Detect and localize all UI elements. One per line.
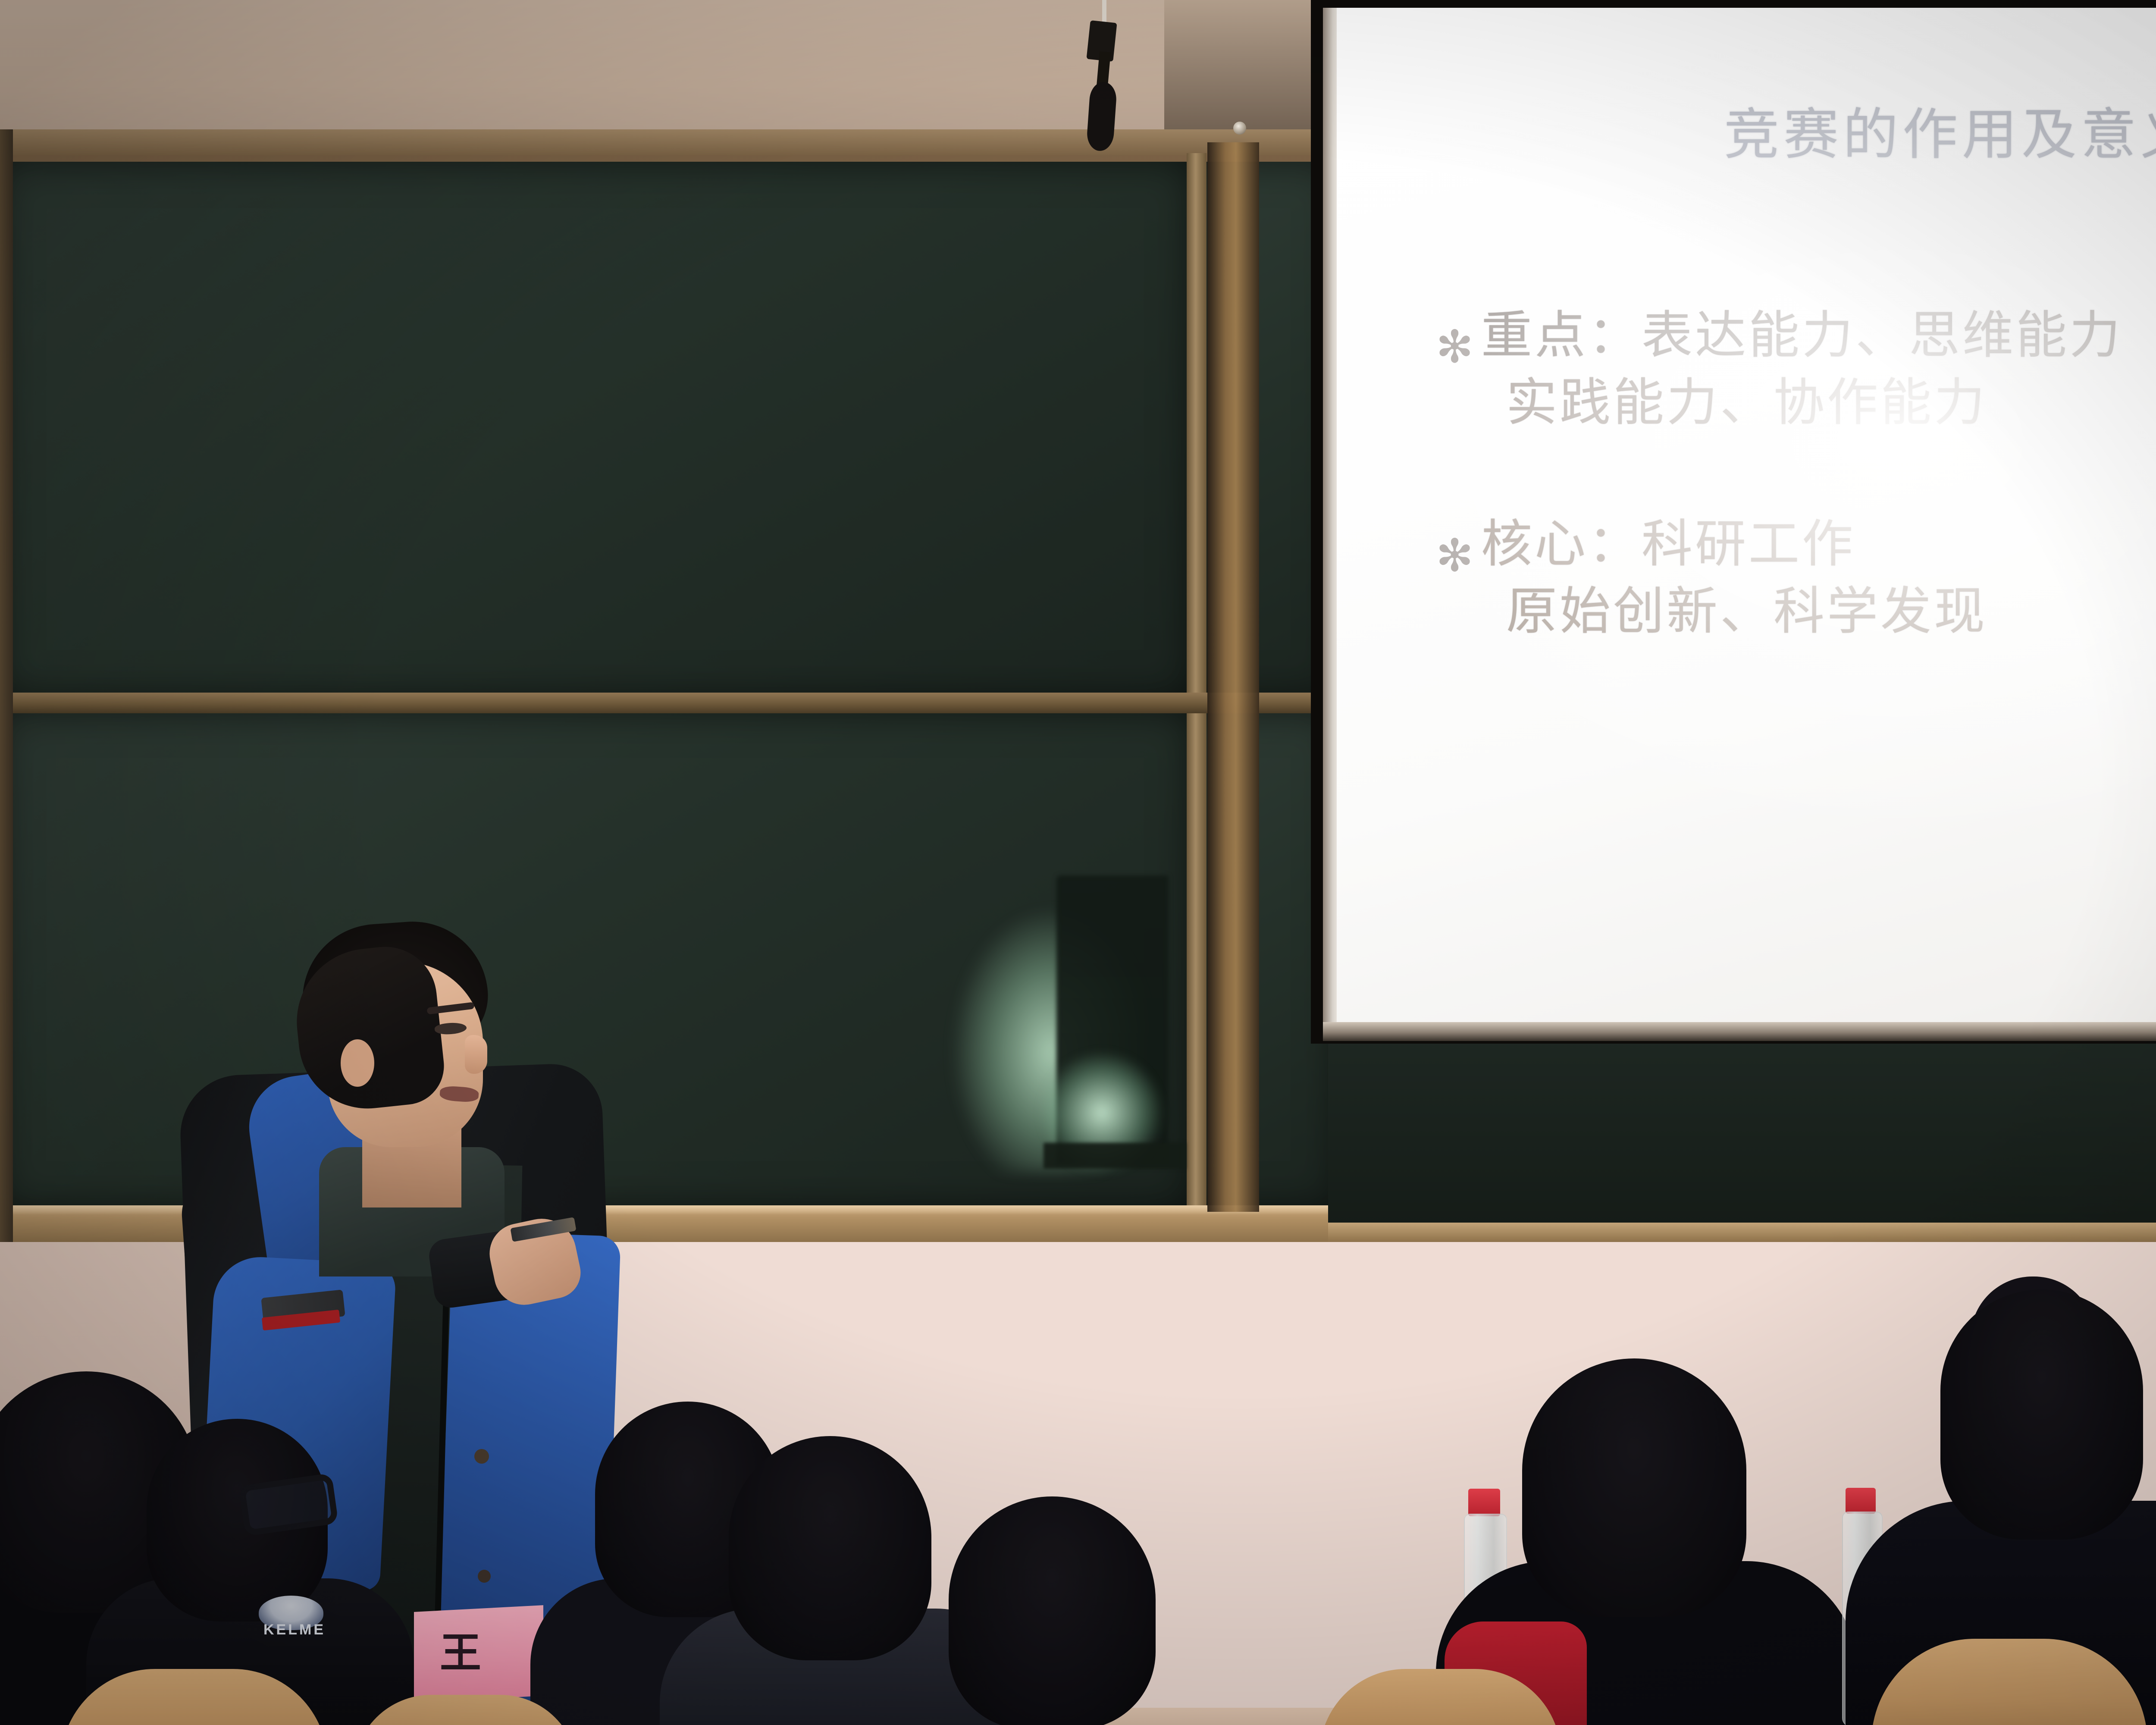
upper-wall [0, 0, 1345, 142]
bottle-cap [1846, 1488, 1876, 1514]
blackboard-ledge-shadow [1044, 1143, 1186, 1169]
screw-icon [1233, 122, 1246, 135]
slide-bullet-1-continuation: 实践能力、协作能力 [1436, 377, 2156, 428]
blackboard-left-edge [0, 129, 13, 1251]
presenter-ear [341, 1039, 374, 1087]
slide-bullet-2-line-1: 核心：科研工作 [1481, 518, 1855, 569]
bullet-marker-icon: ✻ [1436, 533, 1481, 578]
audience-head [1522, 1358, 1746, 1617]
bullet-marker-icon: ✻ [1436, 324, 1481, 369]
slide-bullet-2-continuation: 原始创新、科学发现 [1436, 586, 2156, 637]
slide-body: ✻ 重点：表达能力、思维能力 实践能力、协作能力 ✻ 核心：科研工作 原始创新、… [1436, 310, 2156, 637]
slide-title: 竞赛的作用及意义 [1337, 90, 2156, 169]
blackboard-panel-upper-left [0, 162, 1190, 696]
projection-screen: 竞赛的作用及意义 ✻ 重点：表达能力、思维能力 实践能力、协作能力 ✻ 核心：科… [1337, 8, 2156, 1038]
slide-bullet-1-line-1: 重点：表达能力、思维能力 [1481, 310, 2123, 361]
blackboard-divider-horizontal [0, 693, 1341, 713]
presenter-nose [465, 1035, 487, 1074]
slide-bullet-1: ✻ 重点：表达能力、思维能力 [1436, 310, 2156, 361]
spacer [1436, 428, 2156, 518]
slide-bullet-2: ✻ 核心：科研工作 [1436, 518, 2156, 569]
projection-screen-bottom-bar [1323, 1022, 2156, 1041]
audience-head [949, 1496, 1156, 1725]
lecture-hall-photo: 竞赛的作用及意义 ✻ 重点：表达能力、思维能力 实践能力、协作能力 ✻ 核心：科… [0, 0, 2156, 1725]
audience-head [1940, 1289, 2143, 1540]
slide-bullet-2-line-2: 原始创新、科学发现 [1506, 586, 1987, 637]
slide-bullet-1-line-2: 实践能力、协作能力 [1506, 377, 1987, 428]
wood-post [1207, 142, 1259, 1212]
jacket-button [478, 1570, 491, 1583]
blackboard-divider-vertical [1187, 153, 1206, 1210]
audience-head [729, 1436, 931, 1660]
bottle-cap [1468, 1489, 1500, 1516]
right-blackboard-panel [1328, 1033, 2156, 1248]
name-placard-text: 王 [440, 1619, 481, 1679]
kelme-logo-text: KELME [258, 1621, 331, 1638]
jacket-button [474, 1449, 489, 1464]
blackboard-top-rail [0, 129, 1341, 155]
